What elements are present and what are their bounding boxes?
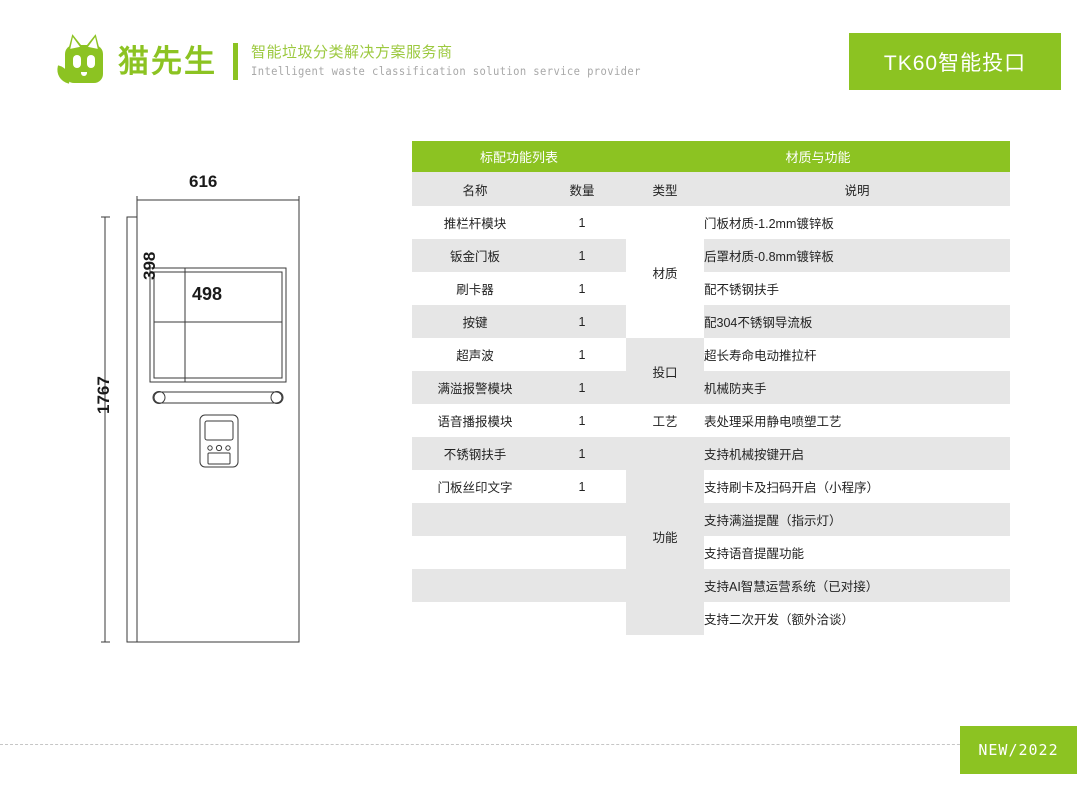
cell-quantity: 1 <box>538 272 626 305</box>
table-body: 推栏杆模块1材质门板材质-1.2mm镀锌板钣金门板1后罩材质-0.8mm镀锌板刷… <box>412 206 1010 635</box>
column-header-name: 名称 <box>412 172 538 206</box>
table-head: 标配功能列表 材质与功能 名称 数量 类型 说明 <box>412 141 1010 206</box>
table-row: 不锈钢扶手1功能支持机械按键开启 <box>412 437 1010 470</box>
cell-quantity: 1 <box>538 437 626 470</box>
cell-name: 门板丝印文字 <box>412 470 538 503</box>
column-header-row: 名称 数量 类型 说明 <box>412 172 1010 206</box>
brand-tagline: 智能垃圾分类解决方案服务商 Intelligent waste classifi… <box>251 42 641 80</box>
cell-name: 满溢报警模块 <box>412 371 538 404</box>
cell-quantity: 1 <box>538 338 626 371</box>
table-row: 支持满溢提醒（指示灯） <box>412 503 1010 536</box>
table-row: 语音播报模块1工艺表处理采用静电喷塑工艺 <box>412 404 1010 437</box>
cell-description: 配304不锈钢导流板 <box>704 305 1010 338</box>
group-header-row: 标配功能列表 材质与功能 <box>412 141 1010 172</box>
cell-description: 表处理采用静电喷塑工艺 <box>704 404 1010 437</box>
cell-description: 支持语音提醒功能 <box>704 536 1010 569</box>
cell-name: 钣金门板 <box>412 239 538 272</box>
brand-block: 猫先生 智能垃圾分类解决方案服务商 Intelligent waste clas… <box>55 33 641 89</box>
cell-name <box>412 602 538 635</box>
cell-type: 材质 <box>626 206 704 338</box>
product-title-badge: TK60智能投口 <box>849 33 1061 90</box>
table-row: 满溢报警模块1机械防夹手 <box>412 371 1010 404</box>
cell-quantity <box>538 569 626 602</box>
column-header-desc: 说明 <box>704 172 1010 206</box>
dimension-width-label: 616 <box>189 172 217 192</box>
table-row: 门板丝印文字1支持刷卡及扫码开启（小程序） <box>412 470 1010 503</box>
cell-description: 配不锈钢扶手 <box>704 272 1010 305</box>
table-row: 钣金门板1后罩材质-0.8mm镀锌板 <box>412 239 1010 272</box>
drawing-svg <box>92 172 360 662</box>
cell-description: 支持二次开发（额外洽谈） <box>704 602 1010 635</box>
cell-description: 超长寿命电动推拉杆 <box>704 338 1010 371</box>
table-row: 按键1配304不锈钢导流板 <box>412 305 1010 338</box>
cell-name <box>412 569 538 602</box>
cell-quantity: 1 <box>538 239 626 272</box>
cell-quantity: 1 <box>538 470 626 503</box>
table-row: 推栏杆模块1材质门板材质-1.2mm镀锌板 <box>412 206 1010 239</box>
cell-description: 支持刷卡及扫码开启（小程序） <box>704 470 1010 503</box>
cell-description: 机械防夹手 <box>704 371 1010 404</box>
column-header-qty: 数量 <box>538 172 626 206</box>
cat-face-icon <box>55 33 111 89</box>
tagline-english: Intelligent waste classification solutio… <box>251 64 641 82</box>
specification-table: 标配功能列表 材质与功能 名称 数量 类型 说明 推栏杆模块1材质门板材质-1.… <box>412 141 1010 635</box>
cell-quantity <box>538 536 626 569</box>
cell-description: 门板材质-1.2mm镀锌板 <box>704 206 1010 239</box>
new-year-badge: NEW/2022 <box>960 726 1077 774</box>
technical-drawing: 616 498 398 1767 <box>92 172 360 662</box>
dimension-total-height-label: 1767 <box>94 376 114 414</box>
column-header-type: 类型 <box>626 172 704 206</box>
table-row: 支持二次开发（额外洽谈） <box>412 602 1010 635</box>
dimension-opening-height-label: 398 <box>140 252 160 280</box>
brand-divider-bar <box>233 43 238 80</box>
cell-name: 按键 <box>412 305 538 338</box>
cell-description: 支持机械按键开启 <box>704 437 1010 470</box>
cell-name: 不锈钢扶手 <box>412 437 538 470</box>
cell-quantity: 1 <box>538 305 626 338</box>
cell-quantity: 1 <box>538 404 626 437</box>
cell-name: 语音播报模块 <box>412 404 538 437</box>
cell-description: 后罩材质-0.8mm镀锌板 <box>704 239 1010 272</box>
page-header: 猫先生 智能垃圾分类解决方案服务商 Intelligent waste clas… <box>0 0 1077 120</box>
table-row: 支持AI智慧运营系统（已对接） <box>412 569 1010 602</box>
brand-name: 猫先生 <box>118 46 217 77</box>
table-row: 超声波1投口超长寿命电动推拉杆 <box>412 338 1010 371</box>
cell-type: 投口 <box>626 338 704 404</box>
table-row: 刷卡器1配不锈钢扶手 <box>412 272 1010 305</box>
table-row: 支持语音提醒功能 <box>412 536 1010 569</box>
cell-name: 刷卡器 <box>412 272 538 305</box>
tagline-chinese: 智能垃圾分类解决方案服务商 <box>251 42 641 64</box>
footer-divider <box>0 744 1010 745</box>
cell-quantity: 1 <box>538 206 626 239</box>
cell-type: 功能 <box>626 437 704 635</box>
cell-name: 推栏杆模块 <box>412 206 538 239</box>
cell-quantity <box>538 503 626 536</box>
cell-description: 支持AI智慧运营系统（已对接） <box>704 569 1010 602</box>
group-header-materials: 材质与功能 <box>626 141 1010 172</box>
cell-quantity <box>538 602 626 635</box>
dimension-opening-width-label: 498 <box>192 284 222 305</box>
cell-description: 支持满溢提醒（指示灯） <box>704 503 1010 536</box>
cell-quantity: 1 <box>538 371 626 404</box>
cell-type: 工艺 <box>626 404 704 437</box>
cell-name <box>412 536 538 569</box>
cell-name <box>412 503 538 536</box>
group-header-features: 标配功能列表 <box>412 141 626 172</box>
cell-name: 超声波 <box>412 338 538 371</box>
